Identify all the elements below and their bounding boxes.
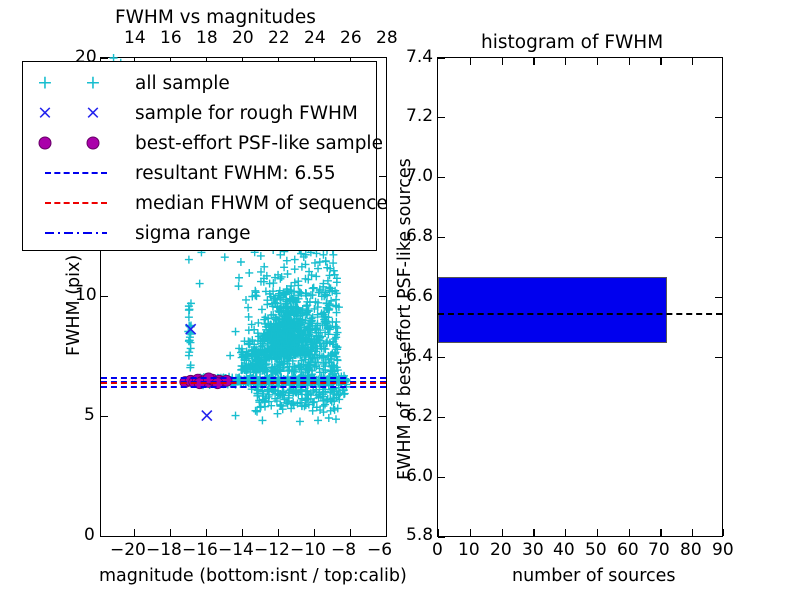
axis-tick (533, 58, 534, 65)
legend-item: median FHWM of sequence (31, 188, 368, 218)
axis-tick (715, 117, 722, 118)
right-y-axis-label: FWHM of best-effort PSF-like sources (395, 158, 415, 480)
x-tick-label: 40 (553, 542, 575, 559)
axis-tick (597, 529, 598, 536)
axis-tick (723, 529, 724, 536)
dashed-line-icon (45, 202, 107, 204)
x-tick-label: 30 (522, 542, 544, 559)
axis-tick (715, 237, 722, 238)
x-tick-label: 90 (712, 542, 734, 559)
axis-tick (438, 237, 445, 238)
bottom-tick-label: −20 (110, 542, 146, 559)
y-tick-label: 7.2 (406, 108, 433, 125)
top-tick-label: 28 (376, 30, 398, 47)
legend-item: sigma range (31, 218, 368, 248)
y-tick-label: 5 (84, 407, 95, 424)
figure-canvas: FWHM vs magnitudes 14 16 18 20 22 24 26 … (0, 0, 800, 600)
right-axes-frame (437, 57, 723, 537)
circle-marker-icon (39, 137, 52, 150)
top-tick-label: 20 (232, 30, 254, 47)
legend-marker-sigma-range (31, 218, 135, 248)
x-tick-label: 10 (458, 542, 480, 559)
bottom-tick-label: −8 (331, 542, 356, 559)
axis-tick (715, 177, 722, 178)
axis-tick (629, 58, 630, 65)
y-tick-label: 7.4 (406, 49, 433, 66)
cross-marker-icon: × (85, 104, 101, 123)
axis-tick (629, 529, 630, 536)
axis-tick (692, 58, 693, 65)
top-tick-label: 26 (340, 30, 362, 47)
legend-marker-all-sample: + + (31, 68, 135, 98)
left-y-axis-label: FWHM (pix) (64, 255, 84, 356)
axis-tick (438, 177, 445, 178)
cross-marker-icon: × (37, 104, 53, 123)
axis-tick (565, 58, 566, 65)
axis-tick (438, 417, 445, 418)
circle-marker-icon (87, 137, 100, 150)
legend-label: sample for rough FWHM (135, 103, 358, 124)
sigma-range-upper-line (101, 377, 386, 379)
axis-tick (438, 537, 445, 538)
plus-marker-icon: + (85, 74, 101, 93)
bottom-tick-label: −10 (290, 542, 326, 559)
y-tick-label: 0 (84, 527, 95, 544)
x-tick-label: 50 (585, 542, 607, 559)
axis-tick (692, 529, 693, 536)
axis-tick (597, 58, 598, 65)
legend-label: median FHWM of sequence (135, 193, 388, 214)
top-tick-label: 14 (124, 30, 146, 47)
median-fwhm-line (101, 382, 386, 384)
legend-label: best-effort PSF-like sample (135, 133, 383, 154)
legend: + + all sample × × sample for rough FWHM… (22, 61, 377, 251)
legend-item: resultant FWHM: 6.55 (31, 158, 368, 188)
axis-tick (502, 58, 503, 65)
bottom-tick-label: −18 (146, 542, 182, 559)
top-tick-label: 18 (196, 30, 218, 47)
axis-tick (660, 58, 661, 65)
x-tick-label: 0 (432, 542, 443, 559)
top-tick-label: 24 (304, 30, 326, 47)
right-x-axis-label: number of sources (512, 566, 676, 586)
axis-tick (438, 477, 445, 478)
legend-label: all sample (135, 73, 230, 94)
bottom-tick-label: −6 (367, 542, 392, 559)
x-tick-label: 70 (648, 542, 670, 559)
axis-tick (438, 117, 445, 118)
histogram-bar (438, 277, 667, 343)
dashed-line-icon (45, 172, 107, 174)
legend-item: × × sample for rough FWHM (31, 98, 368, 128)
bottom-tick-label: −16 (182, 542, 218, 559)
axis-tick (438, 357, 445, 358)
x-tick-label: 60 (617, 542, 639, 559)
axis-tick (715, 297, 722, 298)
left-x-axis-label: magnitude (bottom:isnt / top:calib) (99, 566, 407, 586)
top-tick-label: 22 (268, 30, 290, 47)
plus-marker-icon: + (37, 74, 53, 93)
bottom-tick-label: −12 (254, 542, 290, 559)
legend-marker-resultant-fwhm (31, 158, 135, 188)
legend-marker-median-fwhm (31, 188, 135, 218)
axis-tick (438, 529, 439, 536)
legend-label: sigma range (135, 223, 251, 244)
left-panel-title: FWHM vs magnitudes (115, 7, 316, 28)
axis-tick (715, 357, 722, 358)
dashdot-line-icon (45, 223, 123, 243)
axis-tick (470, 58, 471, 65)
legend-item: best-effort PSF-like sample (31, 128, 368, 158)
axis-tick (660, 529, 661, 536)
resultant-fwhm-dashed-line (438, 313, 722, 315)
y-tick-label: 5.8 (406, 527, 433, 544)
legend-item: + + all sample (31, 68, 368, 98)
axis-tick (502, 529, 503, 536)
axis-tick (438, 58, 445, 59)
legend-marker-psf-sample (31, 128, 135, 158)
axis-tick (565, 529, 566, 536)
x-tick-label: 20 (490, 542, 512, 559)
top-tick-label: 16 (160, 30, 182, 47)
axis-tick (533, 529, 534, 536)
x-tick-label: 80 (680, 542, 702, 559)
sigma-range-lower-line (101, 386, 386, 388)
axis-tick (470, 529, 471, 536)
bottom-tick-label: −14 (218, 542, 254, 559)
legend-label: resultant FWHM: 6.55 (135, 163, 336, 184)
right-panel-title: histogram of FWHM (481, 32, 663, 53)
legend-marker-rough-fwhm: × × (31, 98, 135, 128)
right-panel-histogram: histogram of FWHM (400, 0, 800, 600)
